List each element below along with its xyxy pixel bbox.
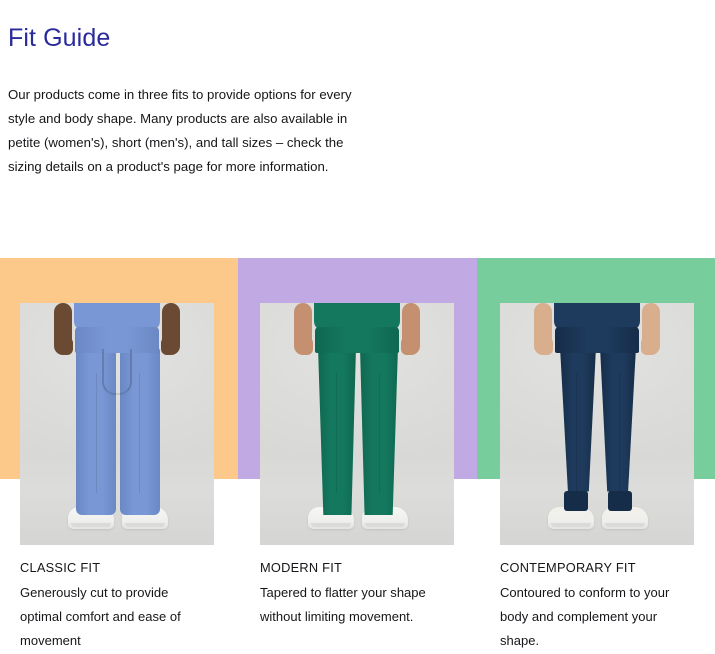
garment-leg-left — [318, 347, 356, 515]
fit-card-modern[interactable]: MODERN FIT Tapered to flatter your shape… — [260, 303, 454, 629]
fit-image-contemporary[interactable] — [500, 303, 694, 545]
fit-description-contemporary: Contoured to conform to your body and co… — [500, 581, 692, 653]
model-hand-left — [60, 337, 73, 355]
fit-card-contemporary[interactable]: CONTEMPORARY FIT Contoured to conform to… — [500, 303, 694, 653]
garment-waistband — [315, 327, 399, 353]
garment-seam-right — [379, 373, 380, 493]
page-title: Fit Guide — [8, 22, 110, 54]
garment-drawstring — [102, 349, 132, 395]
garment-seam-right — [619, 373, 620, 493]
model-hand-right — [161, 337, 174, 355]
fit-description-classic: Generously cut to provide optimal comfor… — [20, 581, 210, 653]
fit-title-contemporary: CONTEMPORARY FIT — [500, 559, 700, 576]
fit-description-modern: Tapered to flatter your shape without li… — [260, 581, 450, 629]
fit-caption-classic: CLASSIC FIT Generously cut to provide op… — [20, 545, 220, 653]
fit-card-classic[interactable]: CLASSIC FIT Generously cut to provide op… — [20, 303, 214, 653]
fit-caption-contemporary: CONTEMPORARY FIT Contoured to conform to… — [500, 545, 700, 653]
photo-floor — [500, 453, 694, 545]
photo-floor — [20, 453, 214, 545]
model-hand-left — [540, 337, 553, 355]
model-hand-right — [401, 337, 414, 355]
garment-seam-left — [576, 373, 577, 493]
fit-title-classic: CLASSIC FIT — [20, 559, 220, 576]
photo-floor — [260, 453, 454, 545]
garment-cuff-right — [608, 491, 632, 511]
garment-seam-left — [336, 373, 337, 493]
model-hand-left — [300, 337, 313, 355]
fit-image-modern[interactable] — [260, 303, 454, 545]
model-hand-right — [641, 337, 654, 355]
fit-image-classic[interactable] — [20, 303, 214, 545]
garment-seam-right — [139, 373, 140, 493]
garment-cuff-left — [564, 491, 588, 511]
garment-waistband — [555, 327, 639, 353]
garment-seam-left — [96, 373, 97, 493]
intro-paragraph: Our products come in three fits to provi… — [8, 83, 353, 179]
fit-title-modern: MODERN FIT — [260, 559, 460, 576]
fit-caption-modern: MODERN FIT Tapered to flatter your shape… — [260, 545, 460, 629]
